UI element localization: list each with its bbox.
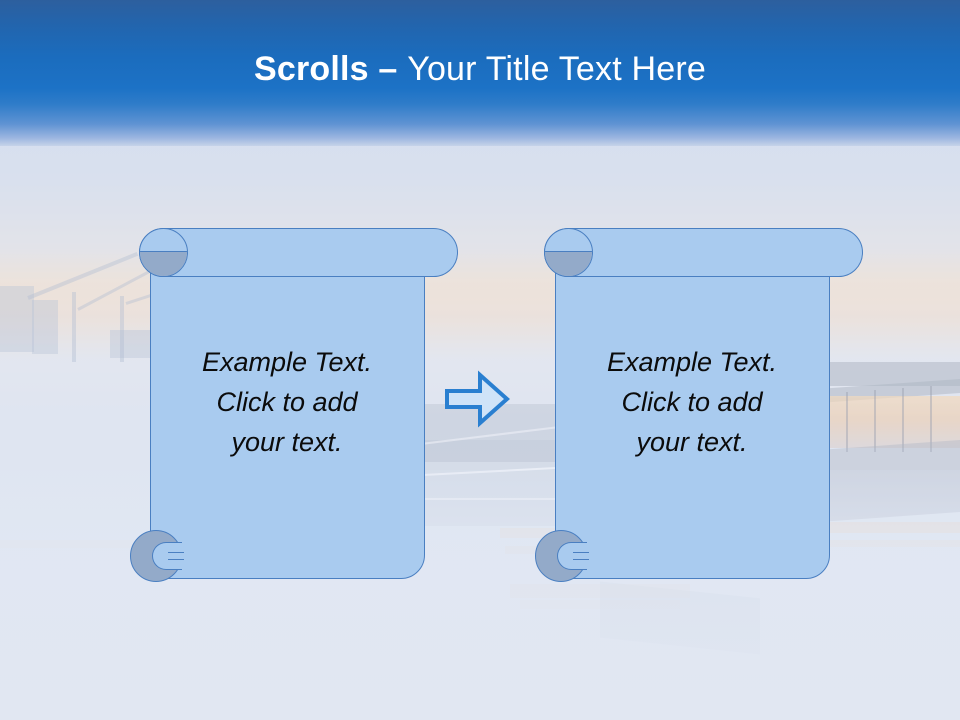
arrow-right-icon-svg <box>444 370 510 428</box>
scroll-right-top-curl <box>544 228 593 277</box>
scroll-left-text[interactable]: Example Text. Click to add your text. <box>154 342 420 462</box>
scroll-left[interactable]: Example Text. Click to add your text. <box>130 212 460 582</box>
scroll-right-bottom-tongue <box>573 552 589 560</box>
page-title-regular-part: Your Title Text Here <box>407 50 706 88</box>
scroll-left-bottom-tongue <box>168 552 184 560</box>
page-title: Scrolls – Your Title Text Here <box>0 49 960 89</box>
scroll-left-top-curl <box>139 228 188 277</box>
arrow-right-icon[interactable] <box>444 370 510 428</box>
page-title-bold-part: Scrolls <box>254 50 378 88</box>
title-banner: Scrolls – Your Title Text Here <box>0 0 960 146</box>
slide-canvas: Scrolls – Your Title Text Here Example T… <box>0 0 960 720</box>
scroll-right-text[interactable]: Example Text. Click to add your text. <box>559 342 825 462</box>
scroll-right[interactable]: Example Text. Click to add your text. <box>535 212 865 582</box>
page-title-dash: – <box>378 50 407 88</box>
